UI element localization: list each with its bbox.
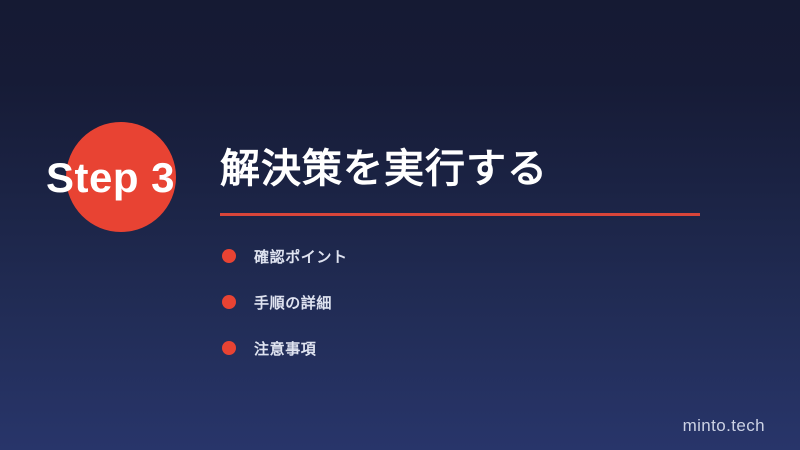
title-divider bbox=[220, 213, 700, 216]
step-badge-label: Step 3 bbox=[46, 152, 175, 204]
list-item-label: 確認ポイント bbox=[254, 246, 348, 267]
slide-canvas: Step 3 解決策を実行する 確認ポイント 手順の詳細 注意事項 minto.… bbox=[0, 0, 800, 450]
bullet-dot-icon bbox=[222, 295, 236, 309]
list-item: 確認ポイント bbox=[220, 233, 700, 279]
list-item: 手順の詳細 bbox=[220, 279, 700, 325]
bullet-dot-icon bbox=[222, 249, 236, 263]
list-item-label: 注意事項 bbox=[254, 338, 316, 359]
bullet-list: 確認ポイント 手順の詳細 注意事項 bbox=[220, 233, 700, 371]
list-item: 注意事項 bbox=[220, 325, 700, 371]
page-title: 解決策を実行する bbox=[220, 143, 548, 195]
footer-brand: minto.tech bbox=[683, 416, 765, 436]
list-item-label: 手順の詳細 bbox=[254, 292, 332, 313]
bullet-dot-icon bbox=[222, 341, 236, 355]
